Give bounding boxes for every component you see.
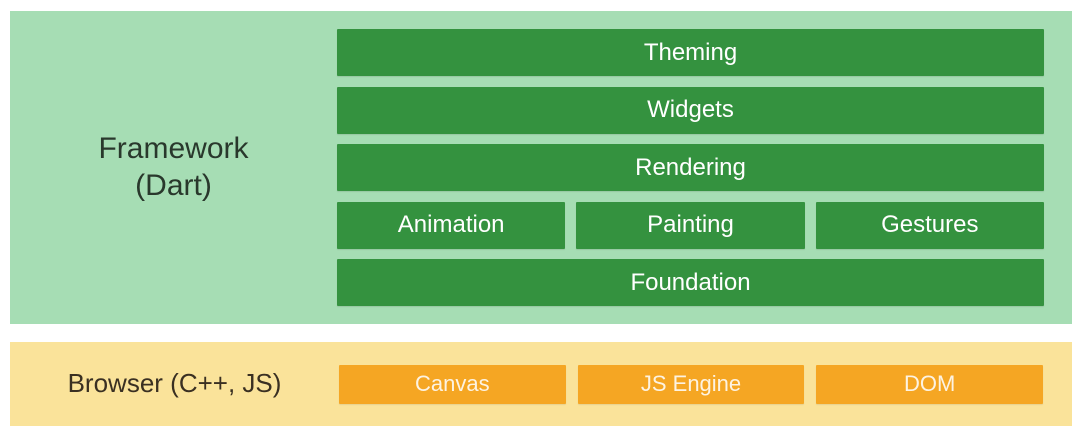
browser-box-js-engine[interactable]: JS Engine: [578, 365, 805, 404]
framework-row-theming: Theming: [337, 29, 1044, 76]
framework-box-theming[interactable]: Theming: [337, 29, 1044, 76]
framework-row-widgets: Widgets: [337, 87, 1044, 134]
framework-layer-label: Framework (Dart): [10, 131, 337, 204]
framework-layer-panel: Framework (Dart) Theming Widgets Renderi…: [10, 11, 1072, 324]
framework-box-gestures[interactable]: Gestures: [816, 202, 1044, 249]
browser-row-engines: Canvas JS Engine DOM: [339, 365, 1043, 404]
browser-layer-label: Browser (C++, JS): [10, 368, 339, 400]
browser-box-dom[interactable]: DOM: [816, 365, 1043, 404]
framework-row-foundation: Foundation: [337, 259, 1044, 306]
framework-row-subsystems: Animation Painting Gestures: [337, 202, 1044, 249]
framework-box-painting[interactable]: Painting: [576, 202, 804, 249]
framework-box-foundation[interactable]: Foundation: [337, 259, 1044, 306]
framework-box-widgets[interactable]: Widgets: [337, 87, 1044, 134]
browser-layer-panel: Browser (C++, JS) Canvas JS Engine DOM: [10, 342, 1072, 426]
browser-box-canvas[interactable]: Canvas: [339, 365, 566, 404]
framework-box-rendering[interactable]: Rendering: [337, 144, 1044, 191]
architecture-diagram: Framework (Dart) Theming Widgets Renderi…: [0, 0, 1080, 442]
framework-row-rendering: Rendering: [337, 144, 1044, 191]
browser-box-stack: Canvas JS Engine DOM: [339, 342, 1072, 426]
framework-box-stack: Theming Widgets Rendering Animation Pain…: [337, 11, 1072, 324]
framework-box-animation[interactable]: Animation: [337, 202, 565, 249]
